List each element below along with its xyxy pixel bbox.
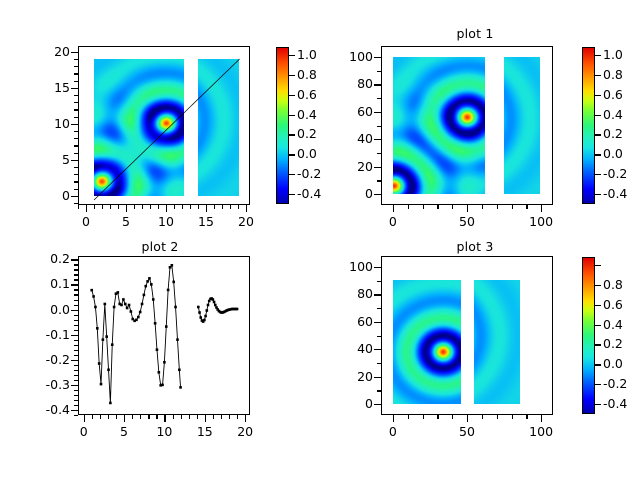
colorbar-tick (595, 154, 601, 155)
y-minor-tick (377, 71, 381, 72)
x-minor-tick (190, 205, 191, 209)
plot2-line-series (0, 240, 320, 480)
line-series-marker (144, 285, 147, 288)
axes3-colorbar (582, 257, 595, 414)
colorbar-tick (289, 75, 295, 76)
line-series-marker (154, 322, 157, 325)
line-series-marker (130, 310, 133, 313)
y-minor-tick (377, 126, 381, 127)
x-minor-tick (118, 205, 119, 209)
x-minor-tick (393, 205, 394, 212)
y-minor-tick (74, 181, 78, 182)
y-tick-label: 20 (335, 371, 373, 383)
colorbar-tick (289, 154, 295, 155)
x-tick-label: 100 (529, 426, 553, 438)
x-tick-label: 0 (389, 426, 397, 438)
line-series-marker (214, 304, 217, 307)
image-patch (504, 57, 540, 194)
x-minor-tick (541, 415, 542, 422)
colorbar-tick (595, 265, 601, 266)
line-series-marker (176, 338, 179, 341)
line-series-marker (156, 348, 159, 351)
line-series-marker (236, 308, 239, 311)
y-minor-tick (71, 124, 78, 125)
line-series-marker (100, 383, 103, 386)
line-series-marker (163, 361, 166, 364)
x-minor-tick (238, 205, 239, 209)
x-tick-label: 5 (122, 216, 130, 228)
x-minor-tick (497, 205, 498, 209)
x-minor-tick (150, 205, 151, 209)
x-minor-tick (393, 415, 394, 422)
y-tick-label: 15 (32, 82, 70, 94)
colorbar-tick (595, 364, 601, 365)
colorbar-tick-label: 0.4 (603, 109, 623, 121)
colorbar-tick (595, 325, 601, 326)
line-series-marker (102, 338, 105, 341)
y-tick-label: 60 (335, 106, 373, 118)
line-series-marker (96, 327, 99, 330)
line-series-marker (109, 402, 112, 405)
colorbar-tick (595, 404, 601, 405)
y-minor-tick (377, 153, 381, 154)
x-minor-tick (182, 205, 183, 209)
y-minor-tick (74, 153, 78, 154)
y-minor-tick (374, 404, 381, 405)
line-series-marker (171, 264, 174, 267)
x-minor-tick (230, 205, 231, 209)
x-minor-tick (452, 205, 453, 209)
line-series-marker (120, 304, 123, 307)
image-patch (94, 59, 184, 196)
line-series-path (92, 265, 181, 403)
y-minor-tick (71, 196, 78, 197)
axes1-colorbar (582, 47, 595, 204)
colorbar-tick-label: 0.8 (603, 279, 623, 291)
y-minor-tick (374, 57, 381, 58)
y-minor-tick (374, 377, 381, 378)
colorbar-tick-label: 0.0 (297, 148, 317, 160)
colorbar-tick-label: 0.2 (603, 128, 623, 140)
image-patch (393, 280, 461, 404)
x-minor-tick (134, 205, 135, 209)
line-series-marker (104, 303, 107, 306)
line-series-marker (128, 304, 131, 307)
colorbar-tick (595, 285, 601, 286)
axes1-title: plot 1 (380, 27, 570, 41)
image-patch (474, 280, 520, 404)
line-series-marker (107, 368, 110, 371)
image-patch (198, 59, 239, 196)
bottom-left-line-panel: plot 2 051015200.20.10.0-0.1-0.2-0.3-0.4 (0, 240, 320, 480)
y-minor-tick (71, 88, 78, 89)
x-minor-tick (246, 205, 247, 212)
y-tick-label: 100 (335, 51, 373, 63)
x-tick-label: 50 (459, 426, 475, 438)
x-tick-label: 100 (529, 216, 553, 228)
colorbar-tick-label: 0.8 (297, 69, 317, 81)
x-tick-label: 15 (198, 216, 214, 228)
figure-canvas: 0510152005101520 1.00.80.60.40.20.0-0.2-… (0, 0, 640, 480)
y-minor-tick (377, 308, 381, 309)
x-minor-tick (166, 205, 167, 212)
y-minor-tick (374, 84, 381, 85)
line-series-marker (148, 277, 151, 280)
x-minor-tick (206, 205, 207, 212)
line-series-marker (174, 306, 177, 309)
colorbar-tick-label: 0.4 (297, 109, 317, 121)
x-minor-tick (222, 205, 223, 209)
line-series-marker (98, 362, 101, 365)
y-tick-label: 0 (335, 398, 373, 410)
y-tick-label: 40 (335, 133, 373, 145)
colorbar-tick-label: 0.2 (603, 338, 623, 350)
colorbar-tick (595, 55, 601, 56)
y-tick-label: 100 (335, 261, 373, 273)
x-minor-tick (214, 205, 215, 209)
colorbar-tick (595, 134, 601, 135)
colorbar-tick-label: 0.6 (297, 89, 317, 101)
line-series-marker (124, 303, 127, 306)
x-minor-tick (497, 415, 498, 419)
top-left-image-panel: 0510152005101520 1.00.80.60.40.20.0-0.2-… (0, 0, 320, 240)
x-minor-tick (437, 205, 438, 209)
line-series-marker (113, 306, 116, 309)
colorbar-tick (595, 115, 601, 116)
x-minor-tick (437, 415, 438, 419)
y-minor-tick (74, 102, 78, 103)
x-minor-tick (526, 415, 527, 419)
x-tick-label: 0 (82, 216, 90, 228)
y-minor-tick (74, 138, 78, 139)
y-minor-tick (374, 267, 381, 268)
x-minor-tick (512, 415, 513, 419)
line-series-marker (165, 325, 168, 328)
colorbar-tick (289, 174, 295, 175)
line-series-marker (198, 311, 201, 314)
y-minor-tick (377, 363, 381, 364)
y-tick-label: 60 (335, 316, 373, 328)
x-minor-tick (102, 205, 103, 209)
y-minor-tick (377, 180, 381, 181)
y-minor-tick (74, 131, 78, 132)
y-minor-tick (374, 194, 381, 195)
axes3-title: plot 3 (380, 240, 570, 254)
colorbar-tick (595, 75, 601, 76)
line-series-marker (137, 316, 140, 319)
colorbar-tick (289, 115, 295, 116)
x-tick-label: 0 (389, 216, 397, 228)
x-minor-tick (408, 205, 409, 209)
colorbar-tick (289, 95, 295, 96)
line-series-marker (206, 309, 209, 312)
x-tick-label: 10 (158, 216, 174, 228)
y-minor-tick (74, 81, 78, 82)
y-minor-tick (377, 281, 381, 282)
y-minor-tick (377, 336, 381, 337)
x-minor-tick (126, 205, 127, 212)
x-minor-tick (541, 205, 542, 212)
line-series-marker (139, 311, 142, 314)
line-series-marker (178, 368, 181, 371)
y-minor-tick (74, 59, 78, 60)
x-tick-label: 50 (459, 216, 475, 228)
colorbar-tick-label: -0.2 (603, 378, 627, 390)
y-minor-tick (71, 160, 78, 161)
y-tick-label: 80 (335, 78, 373, 90)
colorbar-tick-label: 0.6 (603, 299, 623, 311)
line-series-marker (90, 289, 93, 292)
colorbar-tick (595, 384, 601, 385)
y-tick-label: 80 (335, 288, 373, 300)
line-series-marker (204, 315, 207, 318)
x-minor-tick (452, 415, 453, 419)
y-minor-tick (374, 139, 381, 140)
image-patch (393, 57, 485, 194)
line-series-marker (105, 335, 108, 338)
line-series-marker (150, 283, 153, 286)
line-series-marker (126, 307, 129, 310)
colorbar-tick-label: 0.2 (297, 128, 317, 140)
colorbar-tick-label: 0.6 (603, 89, 623, 101)
colorbar-tick-label: 1.0 (297, 49, 317, 61)
line-series-marker (158, 371, 161, 374)
line-series-marker (172, 281, 175, 284)
y-minor-tick (74, 117, 78, 118)
x-minor-tick (78, 205, 79, 209)
y-minor-tick (74, 145, 78, 146)
y-minor-tick (377, 390, 381, 391)
x-minor-tick (408, 415, 409, 419)
y-minor-tick (74, 203, 78, 204)
y-minor-tick (74, 109, 78, 110)
y-minor-tick (377, 98, 381, 99)
y-minor-tick (74, 174, 78, 175)
x-minor-tick (526, 205, 527, 209)
x-minor-tick (467, 415, 468, 422)
x-minor-tick (467, 205, 468, 212)
y-minor-tick (374, 112, 381, 113)
line-series-marker (122, 298, 125, 301)
x-minor-tick (482, 205, 483, 209)
y-tick-label: 20 (32, 46, 70, 58)
line-series-marker (152, 298, 155, 301)
x-minor-tick (174, 205, 175, 209)
line-series-marker (167, 289, 170, 292)
colorbar-tick-label: -0.4 (297, 188, 321, 200)
y-minor-tick (71, 52, 78, 53)
x-minor-tick (512, 205, 513, 209)
colorbar-tick-label: 1.0 (603, 49, 623, 61)
colorbar-tick-label: -0.4 (603, 398, 627, 410)
x-minor-tick (423, 205, 424, 209)
y-minor-tick (74, 95, 78, 96)
colorbar-tick (595, 174, 601, 175)
x-minor-tick (158, 205, 159, 209)
line-series-marker (199, 316, 202, 319)
colorbar-tick (595, 344, 601, 345)
colorbar-tick (595, 194, 601, 195)
colorbar-tick-label: 0.8 (603, 69, 623, 81)
colorbar-tick-label: -0.2 (603, 168, 627, 180)
line-series-marker (203, 319, 206, 322)
x-minor-tick (142, 205, 143, 209)
colorbar-tick (595, 305, 601, 306)
line-series-marker (161, 384, 164, 387)
line-series-marker (111, 343, 114, 346)
top-right-image-panel: plot 1 050100020406080100 1.00.80.60.40.… (320, 0, 640, 240)
line-series-marker (135, 319, 138, 322)
line-series-marker (94, 306, 97, 309)
y-minor-tick (74, 189, 78, 190)
line-series-marker (143, 294, 146, 297)
x-minor-tick (110, 205, 111, 209)
colorbar-tick (289, 134, 295, 135)
y-tick-label: 10 (32, 118, 70, 130)
y-tick-label: 0 (335, 188, 373, 200)
y-tick-label: 0 (32, 190, 70, 202)
colorbar-tick (289, 55, 295, 56)
line-series-marker (213, 301, 216, 304)
line-series-marker (179, 386, 182, 389)
x-tick-label: 20 (238, 216, 254, 228)
y-tick-label: 5 (32, 154, 70, 166)
y-minor-tick (374, 322, 381, 323)
line-series-marker (207, 304, 210, 307)
colorbar-tick-label: -0.2 (297, 168, 321, 180)
colorbar-tick-label: 0.0 (603, 148, 623, 160)
colorbar-tick (595, 95, 601, 96)
colorbar-tick-label: -0.4 (603, 188, 627, 200)
line-series-marker (197, 306, 200, 309)
colorbar-tick-label: 0.0 (603, 358, 623, 370)
y-tick-label: 40 (335, 343, 373, 355)
x-minor-tick (94, 205, 95, 209)
axes0-colorbar (276, 47, 289, 204)
x-minor-tick (423, 415, 424, 419)
x-minor-tick (482, 415, 483, 419)
y-minor-tick (74, 73, 78, 74)
line-series-marker (146, 280, 149, 283)
x-minor-tick (198, 205, 199, 209)
y-minor-tick (74, 66, 78, 67)
bottom-right-image-panel: plot 3 050100020406080100 0.80.60.40.20.… (320, 240, 640, 480)
y-minor-tick (374, 294, 381, 295)
line-series-marker (92, 295, 95, 298)
x-minor-tick (86, 205, 87, 212)
line-series-marker (212, 298, 215, 301)
colorbar-tick (289, 194, 295, 195)
colorbar-tick-label: 0.4 (603, 319, 623, 331)
y-tick-label: 20 (335, 161, 373, 173)
line-series-marker (117, 291, 120, 294)
line-series-marker (141, 303, 144, 306)
y-minor-tick (374, 167, 381, 168)
y-minor-tick (374, 349, 381, 350)
y-minor-tick (74, 167, 78, 168)
